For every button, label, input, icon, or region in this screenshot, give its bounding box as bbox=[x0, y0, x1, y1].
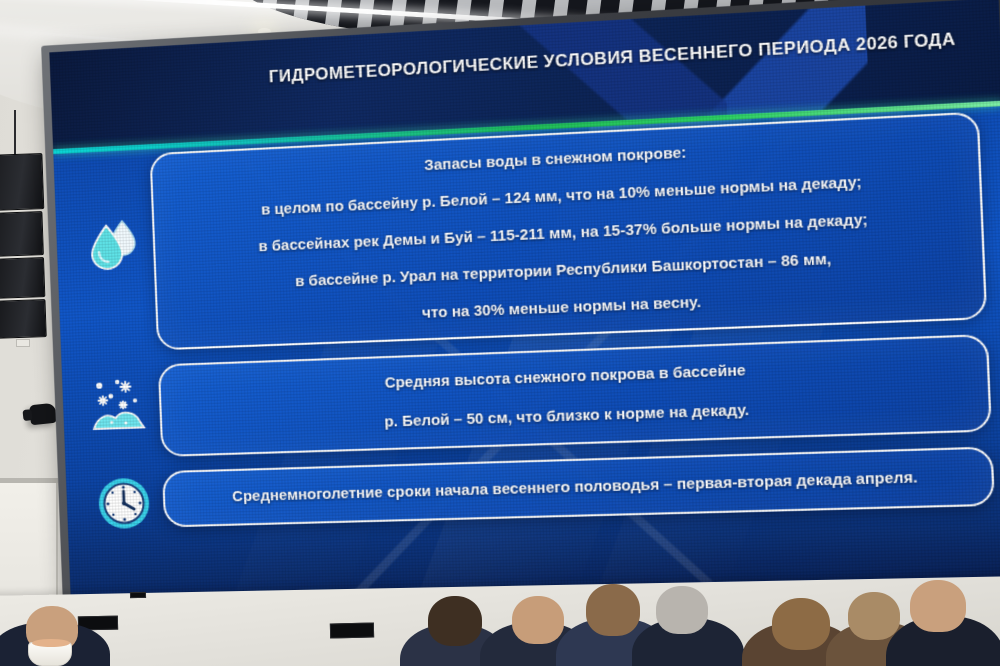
person-head bbox=[586, 584, 640, 636]
slide-content: Запасы воды в снежном покрове: в целом п… bbox=[53, 108, 1000, 598]
person-head bbox=[910, 580, 966, 632]
wall-plate bbox=[16, 339, 30, 347]
person-head bbox=[772, 598, 830, 650]
water-drops-icon bbox=[84, 212, 144, 273]
card-snow-depth[interactable]: Средняя высота снежного покрова в бассей… bbox=[158, 334, 992, 457]
clock-icon bbox=[94, 473, 154, 533]
person-head bbox=[428, 596, 482, 646]
door-header bbox=[0, 478, 58, 483]
coffee-cup bbox=[28, 642, 72, 666]
slide-surface: ГИДРОМЕТЕОРОЛОГИЧЕСКИЕ УСЛОВИЯ ВЕСЕННЕГО… bbox=[49, 0, 1000, 598]
person-head bbox=[656, 586, 708, 634]
audience-row bbox=[0, 556, 1000, 666]
conference-hall-scene: ГИДРОМЕТЕОРОЛОГИЧЕСКИЕ УСЛОВИЯ ВЕСЕННЕГО… bbox=[0, 0, 1000, 666]
line-array-speaker-left bbox=[0, 153, 50, 365]
card-water-reserves[interactable]: Запасы воды в снежном покрове: в целом п… bbox=[149, 112, 987, 351]
security-camera-icon bbox=[29, 403, 57, 426]
card-flood-timing[interactable]: Среднемноголетние сроки начала весеннего… bbox=[162, 446, 995, 527]
snowfall-icon bbox=[90, 375, 150, 435]
person-head bbox=[848, 592, 900, 640]
speaker-rigging bbox=[14, 110, 16, 158]
person-head bbox=[512, 596, 564, 644]
card-line: Среднемноголетние сроки начала весеннего… bbox=[190, 454, 963, 521]
led-presentation-screen[interactable]: ГИДРОМЕТЕОРОЛОГИЧЕСКИЕ УСЛОВИЯ ВЕСЕННЕГО… bbox=[49, 0, 1000, 598]
